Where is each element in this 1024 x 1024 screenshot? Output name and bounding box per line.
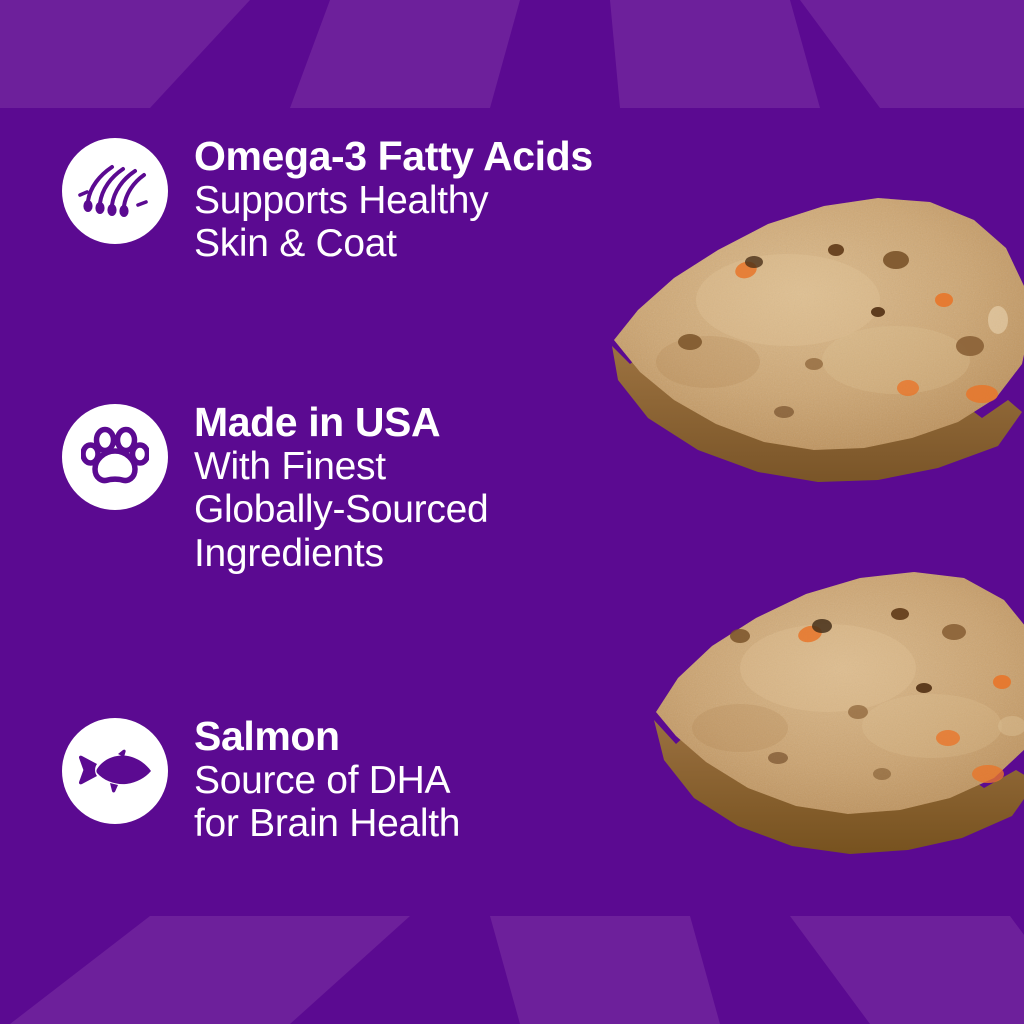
benefit-description: Source of DHA for Brain Health xyxy=(194,759,460,846)
benefit-text-block: Omega-3 Fatty Acids Supports Healthy Ski… xyxy=(194,132,593,266)
product-image-group xyxy=(560,140,1024,900)
benefit-title: Omega-3 Fatty Acids xyxy=(194,136,593,178)
benefit-description: With Finest Globally-Sourced Ingredients xyxy=(194,445,488,576)
benefit-desc-line: Ingredients xyxy=(194,532,488,576)
benefit-text-block: Made in USA With Finest Globally-Sourced… xyxy=(194,398,488,576)
benefit-desc-line: With Finest xyxy=(194,445,488,489)
sunburst-decoration-top xyxy=(0,0,1024,108)
benefit-item-omega-3[interactable]: Omega-3 Fatty Acids Supports Healthy Ski… xyxy=(62,132,593,266)
benefit-desc-line: Skin & Coat xyxy=(194,222,593,266)
benefit-icon-badge xyxy=(62,404,168,510)
benefit-text-block: Salmon Source of DHA for Brain Health xyxy=(194,712,460,846)
fur-strands-icon xyxy=(78,161,152,221)
paw-print-icon xyxy=(81,425,149,489)
benefit-desc-line: Source of DHA xyxy=(194,759,460,803)
benefit-desc-line: for Brain Health xyxy=(194,802,460,846)
benefit-item-made-in-usa[interactable]: Made in USA With Finest Globally-Sourced… xyxy=(62,398,488,576)
dog-treat-biscuit-bottom xyxy=(632,510,1024,900)
benefit-icon-badge xyxy=(62,138,168,244)
sunburst-decoration-bottom xyxy=(0,916,1024,1024)
benefit-title: Salmon xyxy=(194,716,460,758)
product-benefits-panel: Omega-3 Fatty Acids Supports Healthy Ski… xyxy=(0,0,1024,1024)
dog-treat-biscuit-top xyxy=(578,150,1024,550)
salmon-fish-icon xyxy=(77,749,153,793)
benefit-title: Made in USA xyxy=(194,402,488,444)
benefit-desc-line: Globally-Sourced xyxy=(194,488,488,532)
benefit-icon-badge xyxy=(62,718,168,824)
benefit-desc-line: Supports Healthy xyxy=(194,179,593,223)
benefit-description: Supports Healthy Skin & Coat xyxy=(194,179,593,266)
benefit-item-salmon[interactable]: Salmon Source of DHA for Brain Health xyxy=(62,712,460,846)
